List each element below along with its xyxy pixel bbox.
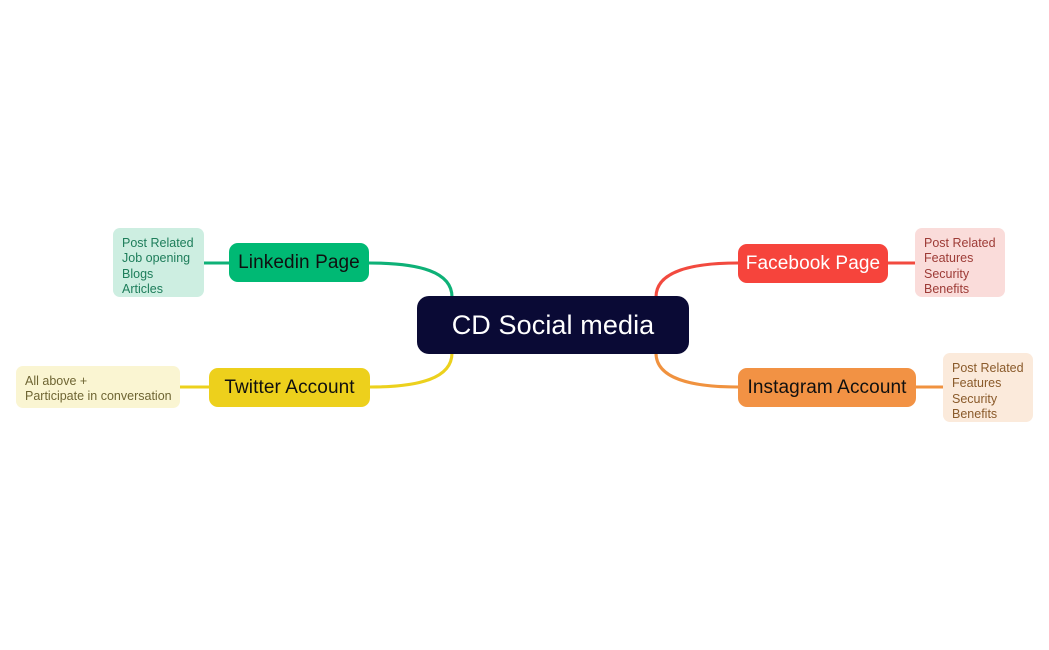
branch-node-instagram-label: Instagram Account <box>747 377 906 399</box>
branch-node-facebook-label: Facebook Page <box>746 253 880 275</box>
edge-root-twitter <box>370 353 452 387</box>
leaf-node-instagram[interactable]: Post Related Features Security Benefits <box>943 353 1033 422</box>
leaf-node-linkedin[interactable]: Post Related Job opening Blogs Articles <box>113 228 204 297</box>
mindmap-canvas: CD Social media Linkedin Page Post Relat… <box>0 0 1049 650</box>
leaf-node-twitter[interactable]: All above + Participate in conversation <box>16 366 180 408</box>
root-node-cd-social-media[interactable]: CD Social media <box>417 296 689 354</box>
branch-node-facebook[interactable]: Facebook Page <box>738 244 888 283</box>
edge-root-facebook <box>656 263 738 297</box>
branch-node-instagram[interactable]: Instagram Account <box>738 368 916 407</box>
branch-node-twitter-label: Twitter Account <box>224 377 354 399</box>
leaf-node-facebook[interactable]: Post Related Features Security Benefits <box>915 228 1005 297</box>
root-node-label: CD Social media <box>452 310 655 341</box>
edge-root-linkedin <box>369 263 452 297</box>
branch-node-twitter[interactable]: Twitter Account <box>209 368 370 407</box>
branch-node-linkedin-label: Linkedin Page <box>238 252 360 274</box>
branch-node-linkedin[interactable]: Linkedin Page <box>229 243 369 282</box>
edge-root-instagram <box>656 353 738 387</box>
